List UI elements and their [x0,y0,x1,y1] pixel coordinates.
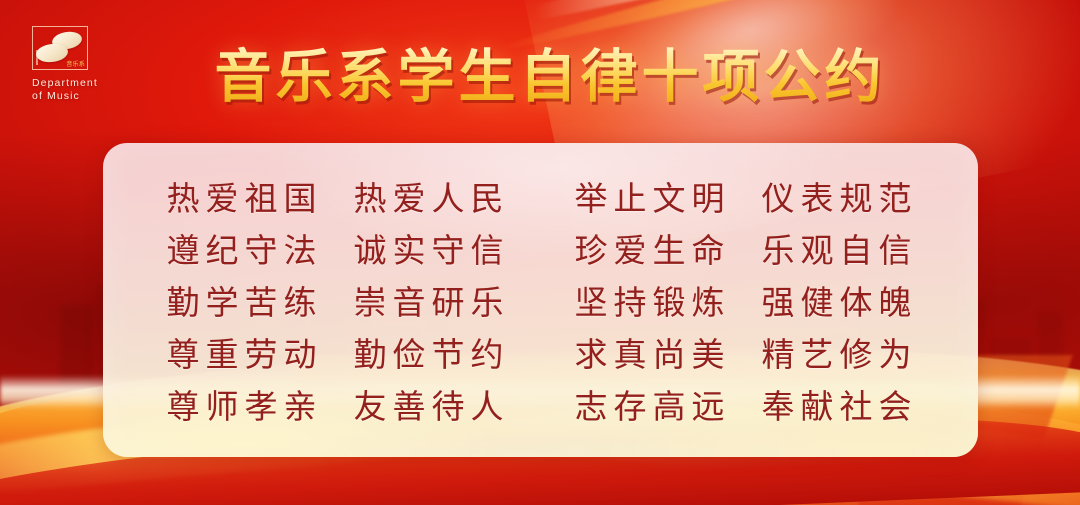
pledge-phrase: 勤俭节约 [351,329,510,381]
pledge-phrase: 仪表规范 [759,173,918,225]
pledge-row: 求真尚美 精艺修为 [572,329,918,381]
pledge-row: 举止文明 仪表规范 [572,173,918,225]
pledge-row: 尊师孝亲 友善待人 [164,381,510,433]
pledge-phrase: 勤学苦练 [164,277,323,329]
pledge-phrase: 诚实守信 [351,225,510,277]
pledge-row: 遵纪守法 诚实守信 [164,225,510,277]
pledge-row: 志存高远 奉献社会 [572,381,918,433]
pledge-phrase: 强健体魄 [759,277,918,329]
pledge-column-left: 热爱祖国 热爱人民 遵纪守法 诚实守信 勤学苦练 崇音研乐 尊重劳动 勤俭节约 … [164,173,510,433]
pledge-phrase: 热爱祖国 [164,173,323,225]
pledge-phrase: 遵纪守法 [164,225,323,277]
pledge-phrase: 乐观自信 [759,225,918,277]
pledge-row: 热爱祖国 热爱人民 [164,173,510,225]
pledge-phrase: 尊重劳动 [164,329,323,381]
pledge-phrase: 友善待人 [351,381,510,433]
pledge-phrase: 崇音研乐 [351,277,510,329]
pledge-panel: 热爱祖国 热爱人民 遵纪守法 诚实守信 勤学苦练 崇音研乐 尊重劳动 勤俭节约 … [103,143,978,457]
poster-canvas: 音乐系 Department of Music 音乐系学生自律十项公约 热爱祖国… [0,0,1080,505]
pledge-row: 勤学苦练 崇音研乐 [164,277,510,329]
poster-title: 音乐系学生自律十项公约 [0,46,1080,108]
pledge-phrase: 志存高远 [572,381,731,433]
pledge-phrase: 举止文明 [572,173,731,225]
pledge-phrase: 精艺修为 [759,329,918,381]
pledge-grid: 热爱祖国 热爱人民 遵纪守法 诚实守信 勤学苦练 崇音研乐 尊重劳动 勤俭节约 … [164,167,918,433]
pledge-phrase: 尊师孝亲 [164,381,323,433]
pledge-phrase: 热爱人民 [351,173,510,225]
pledge-row: 珍爱生命 乐观自信 [572,225,918,277]
pledge-phrase: 奉献社会 [759,381,918,433]
pledge-row: 尊重劳动 勤俭节约 [164,329,510,381]
pledge-row: 坚持锻炼 强健体魄 [572,277,918,329]
pledge-phrase: 坚持锻炼 [572,277,731,329]
pledge-phrase: 珍爱生命 [572,225,731,277]
pledge-phrase: 求真尚美 [572,329,731,381]
pledge-column-right: 举止文明 仪表规范 珍爱生命 乐观自信 坚持锻炼 强健体魄 求真尚美 精艺修为 … [572,173,918,433]
